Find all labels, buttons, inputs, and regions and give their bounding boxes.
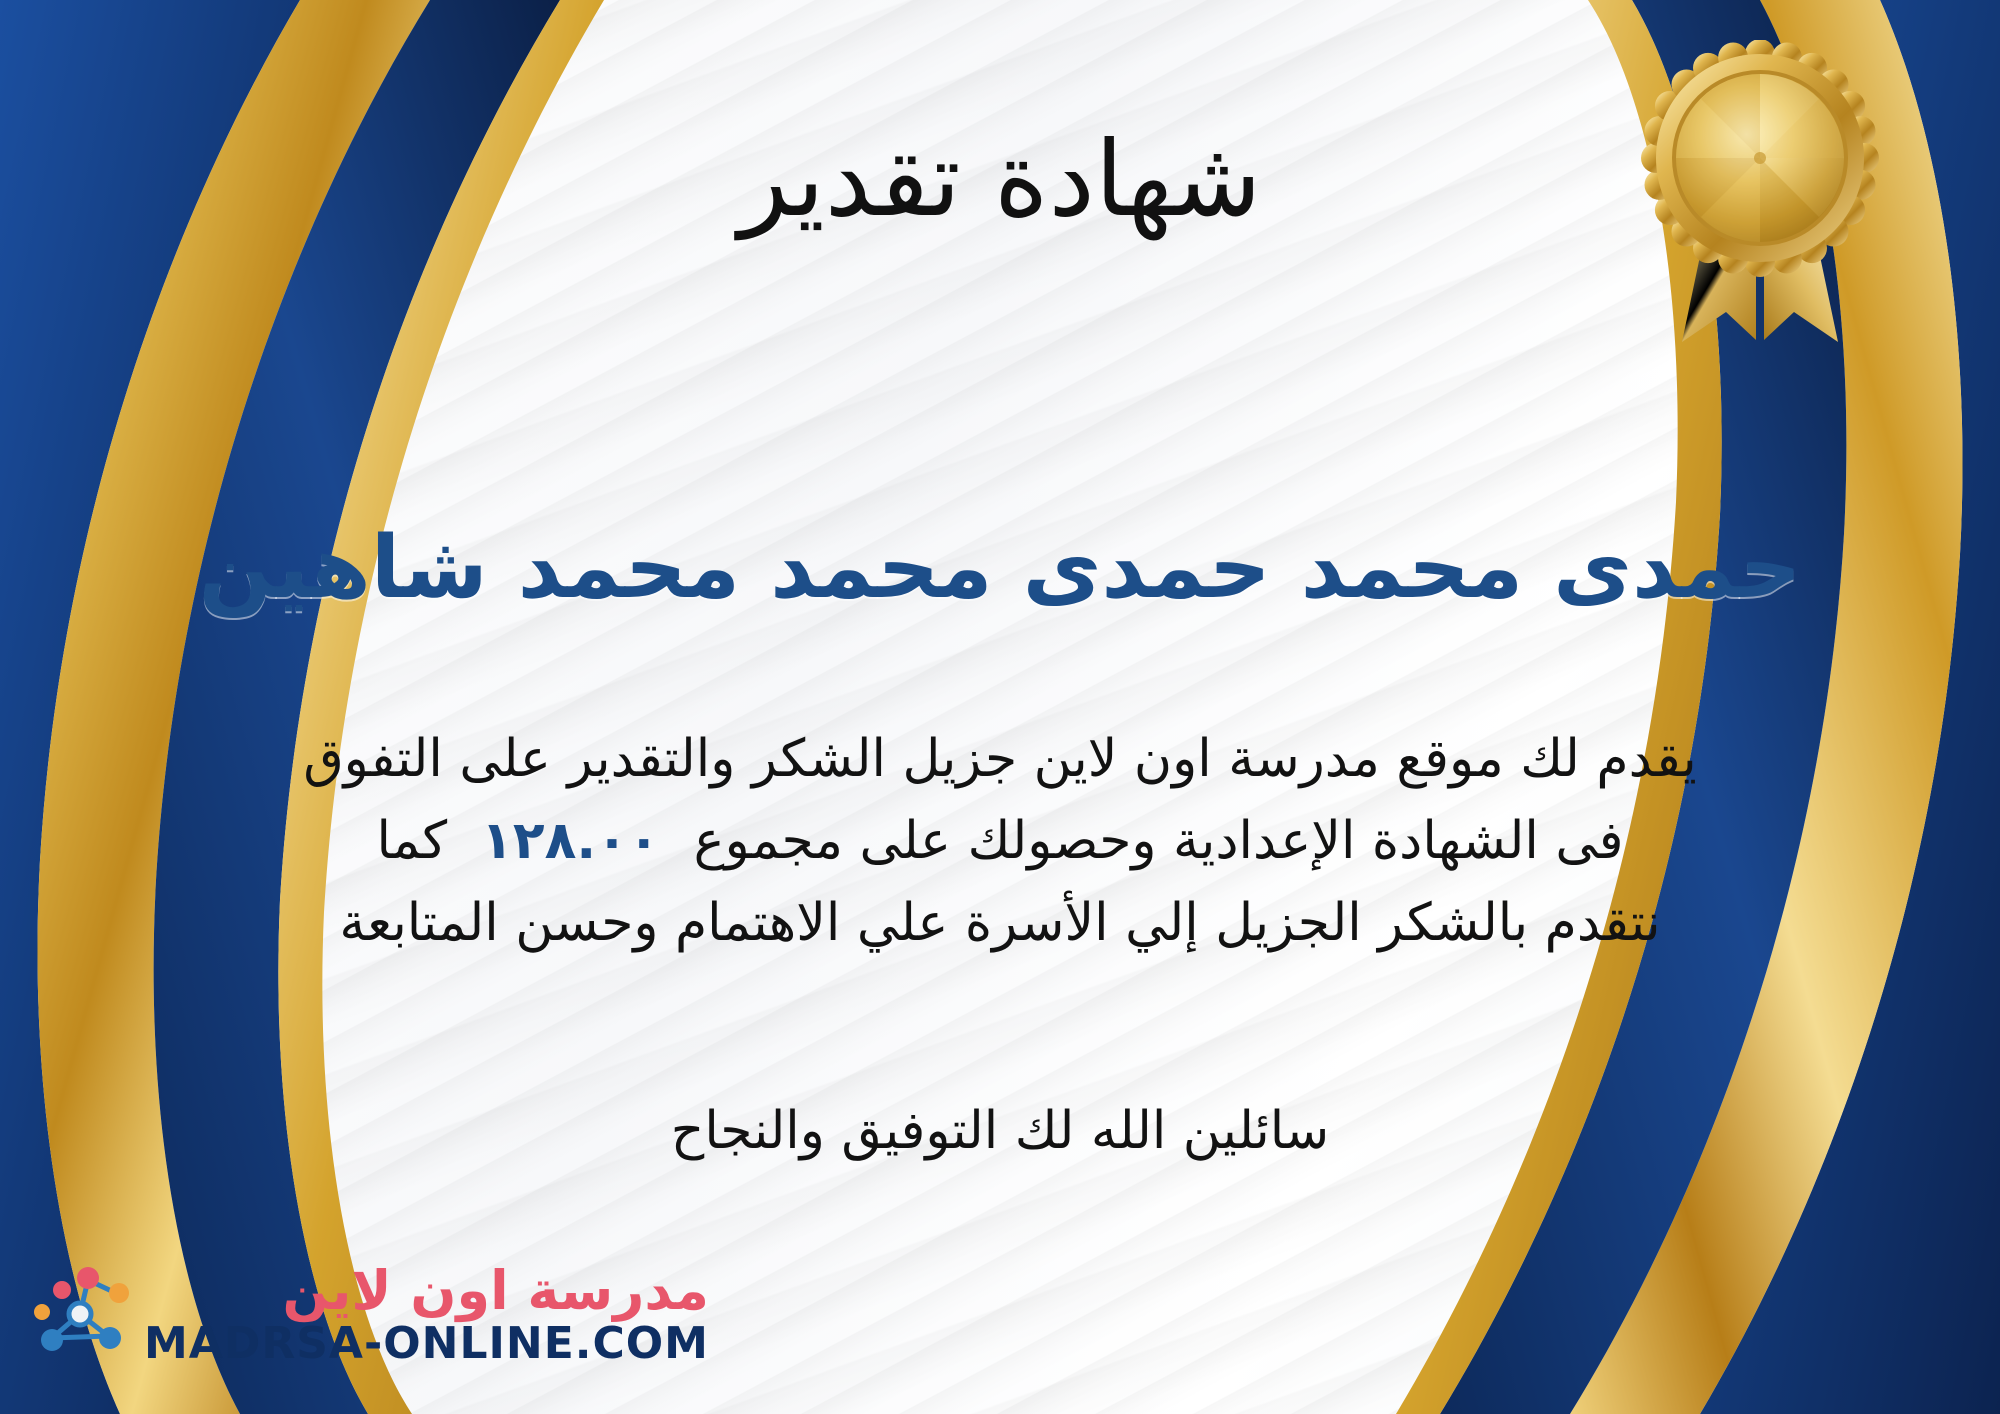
brand-logo[interactable]: مدرسة اون لاين MADRSA-ONLINE.COM [26, 1260, 709, 1372]
total-score-value: ١٢٨.٠٠ [447, 811, 693, 871]
body-line-2-suffix: كما [376, 811, 447, 871]
body-line-3: نتقدم بالشكر الجزيل إلي الأسرة علي الاهت… [40, 882, 1960, 964]
page-title: شهادة تقدير [0, 118, 2000, 241]
body-line-1: يقدم لك موقع مدرسة اون لاين جزيل الشكر و… [40, 718, 1960, 800]
brand-text: مدرسة اون لاين MADRSA-ONLINE.COM [144, 1263, 709, 1368]
certificate-canvas: شهادة تقدير حمدى محمد حمدى محمد محمد شاه… [0, 0, 2000, 1414]
certificate-content: شهادة تقدير حمدى محمد حمدى محمد محمد شاه… [0, 0, 2000, 1414]
brand-arabic-name: مدرسة اون لاين [283, 1263, 709, 1320]
body-line-2-prefix: فى الشهادة الإعدادية وحصولك على مجموع [694, 811, 1624, 871]
certificate-body: يقدم لك موقع مدرسة اون لاين جزيل الشكر و… [40, 718, 1960, 964]
network-nodes-icon [26, 1260, 134, 1372]
closing-line: سائلين الله لك التوفيق والنجاح [0, 1092, 2000, 1170]
brand-url: MADRSA-ONLINE.COM [144, 1320, 709, 1368]
recipient-name: حمدى محمد حمدى محمد محمد شاهين [60, 515, 1940, 623]
body-line-2: فى الشهادة الإعدادية وحصولك على مجموع١٢٨… [40, 800, 1960, 882]
